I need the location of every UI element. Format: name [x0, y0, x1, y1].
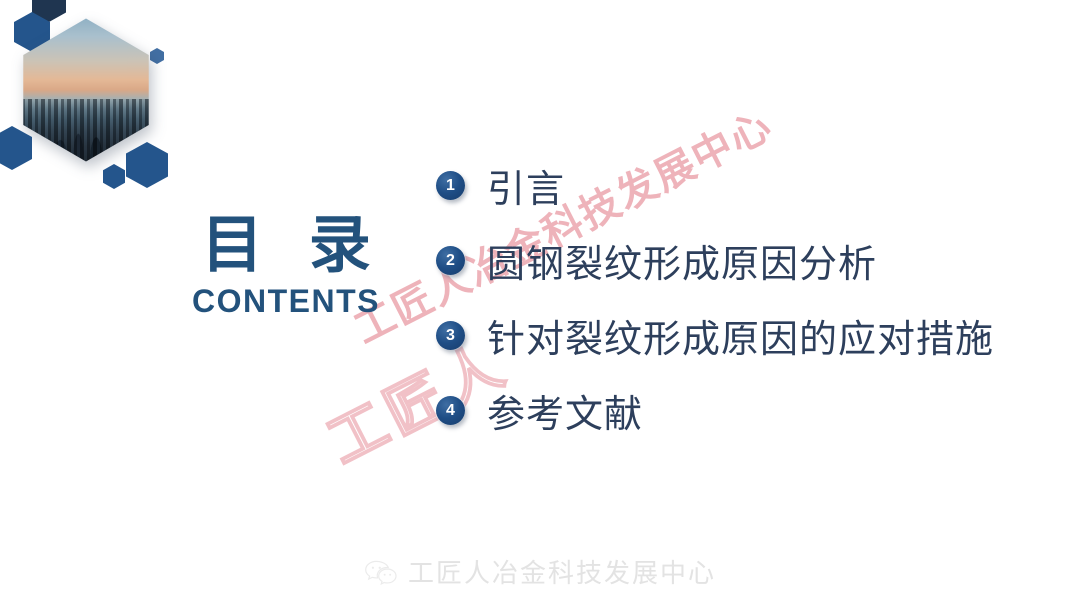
list-item[interactable]: 2 圆钢裂纹形成原因分析: [436, 223, 1056, 298]
slide-canvas: 工匠人 工匠人冶金科技发展中心 目 录 CONTENTS 1 引言 2 圆钢裂纹…: [0, 0, 1080, 608]
item-label: 针对裂纹形成原因的应对措施: [487, 308, 994, 363]
footer-brand-text: 工匠人冶金科技发展中心: [408, 553, 716, 590]
footer-brand: 工匠人冶金科技发展中心: [0, 553, 1080, 590]
item-label: 参考文献: [487, 383, 643, 438]
page-title: 目 录 CONTENTS: [180, 212, 392, 320]
list-item[interactable]: 1 引言: [436, 148, 1056, 223]
wechat-icon: [364, 559, 398, 585]
list-item[interactable]: 3 针对裂纹形成原因的应对措施: [436, 298, 1056, 373]
item-label: 圆钢裂纹形成原因分析: [487, 233, 877, 288]
title-chinese: 目 录: [180, 212, 392, 277]
hexagon-tiny-bottom-icon: [103, 164, 125, 189]
hexagon-photo-frame: [22, 17, 150, 163]
item-number-badge: 1: [436, 171, 465, 200]
item-number-badge: 4: [436, 396, 465, 425]
city-skyline-photo: [22, 17, 150, 163]
item-label: 引言: [487, 158, 565, 213]
list-item[interactable]: 4 参考文献: [436, 373, 1056, 448]
contents-list: 1 引言 2 圆钢裂纹形成原因分析 3 针对裂纹形成原因的应对措施 4 参考文献: [436, 148, 1056, 448]
item-number-badge: 3: [436, 321, 465, 350]
hexagon-tiny-right-icon: [150, 48, 164, 64]
item-number-badge: 2: [436, 246, 465, 275]
title-english: CONTENTS: [180, 283, 392, 320]
